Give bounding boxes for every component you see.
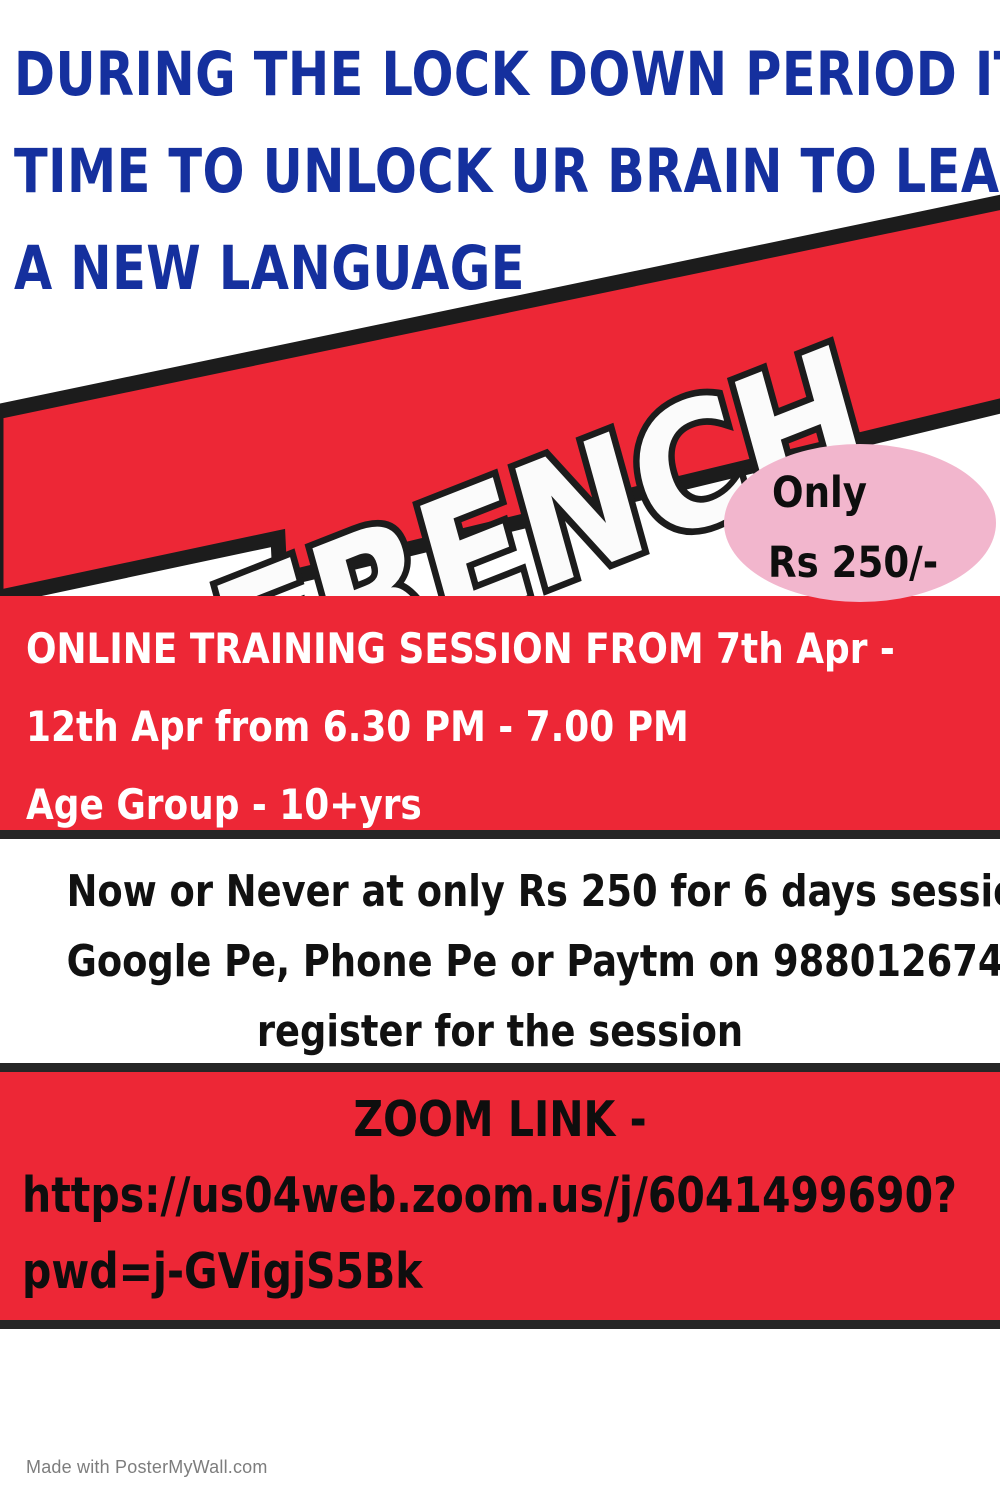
price-badge-line-1: Only: [772, 472, 867, 515]
headline-line-1: DURING THE LOCK DOWN PERIOD ITS: [14, 26, 878, 123]
zoom-link-heading: ZOOM LINK -: [55, 1082, 944, 1158]
session-line-2: 12th Apr from 6.30 PM - 7.00 PM: [26, 688, 927, 766]
session-details-block: ONLINE TRAINING SESSION FROM 7th Apr - 1…: [0, 596, 1000, 830]
divider-rule-2: [0, 1063, 1000, 1072]
payment-block: Now or Never at only Rs 250 for 6 days s…: [0, 839, 1000, 1063]
poster-canvas: DURING THE LOCK DOWN PERIOD ITS TIME TO …: [0, 0, 1000, 1500]
zoom-link-block: ZOOM LINK - https://us04web.zoom.us/j/60…: [0, 1072, 1000, 1320]
divider-rule-3: [0, 1320, 1000, 1329]
price-badge: Only Rs 250/-: [724, 444, 996, 602]
poster-credit: Made with PosterMyWall.com: [26, 1457, 268, 1478]
payment-line-1: Now or Never at only Rs 250 for 6 days s…: [67, 857, 934, 927]
zoom-link-url-line-2[interactable]: pwd=j-GVigjS5Bk: [22, 1234, 911, 1310]
session-line-1: ONLINE TRAINING SESSION FROM 7th Apr -: [26, 610, 927, 688]
divider-rule-1: [0, 830, 1000, 839]
payment-line-2: Google Pe, Phone Pe or Paytm on 98801267…: [67, 927, 934, 997]
payment-line-3: register for the session: [67, 997, 934, 1067]
price-badge-line-2: Rs 250/-: [768, 542, 938, 585]
zoom-link-url-line-1[interactable]: https://us04web.zoom.us/j/6041499690?: [22, 1158, 911, 1234]
